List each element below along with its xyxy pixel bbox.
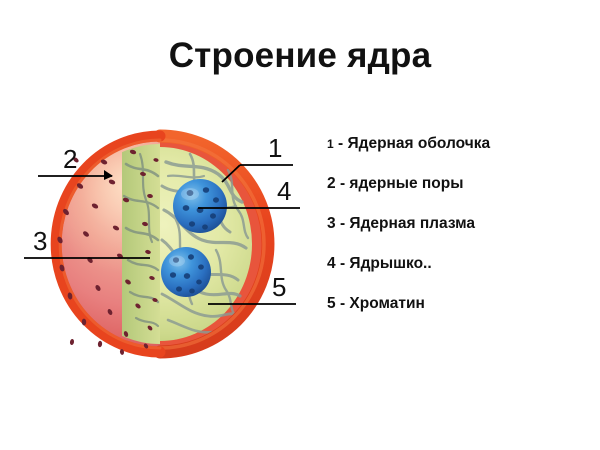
legend-item-5: 5 - Хроматин [327,296,592,312]
legend-item-4-number: 4 [327,255,336,272]
legend-item-2: 2 - ядерные поры [327,176,592,192]
legend-item-2-label: ядерные поры [349,175,463,192]
callout-number-2: 2 [63,144,77,174]
callout-number-5: 5 [272,272,286,302]
legend-item-3-number: 3 [327,215,336,232]
legend-item-1: 1 - Ядерная оболочка [327,136,592,152]
page-title: Строение ядра [0,36,600,76]
legend-item-1-separator: - [338,135,343,152]
legend-item-5-number: 5 [327,295,336,312]
legend-list: 1 - Ядерная оболочка 2 - ядерные поры 3 … [327,136,592,336]
legend-item-1-number: 1 [327,137,334,151]
slide-root: Строение ядра [0,0,600,450]
legend-item-2-number: 2 [327,175,336,192]
nucleolus-lower [161,247,211,297]
nucleolus-upper [173,179,227,233]
callout-number-4: 4 [277,176,291,206]
legend-item-2-separator: - [340,175,345,192]
nucleus-diagram: 2 3 1 4 5 [0,100,320,390]
legend-item-5-separator: - [340,295,345,312]
legend-item-4: 4 - Ядрышко.. [327,256,592,272]
legend-item-3: 3 - Ядерная плазма [327,216,592,232]
callout-number-1: 1 [268,133,282,163]
legend-item-3-separator: - [340,215,345,232]
legend-item-4-label: Ядрышко.. [349,255,431,272]
legend-item-3-label: Ядерная плазма [349,215,475,232]
legend-item-1-label: Ядерная оболочка [347,135,490,152]
callout-number-3: 3 [33,226,47,256]
legend-item-5-label: Хроматин [349,295,424,312]
legend-item-4-separator: - [340,255,345,272]
